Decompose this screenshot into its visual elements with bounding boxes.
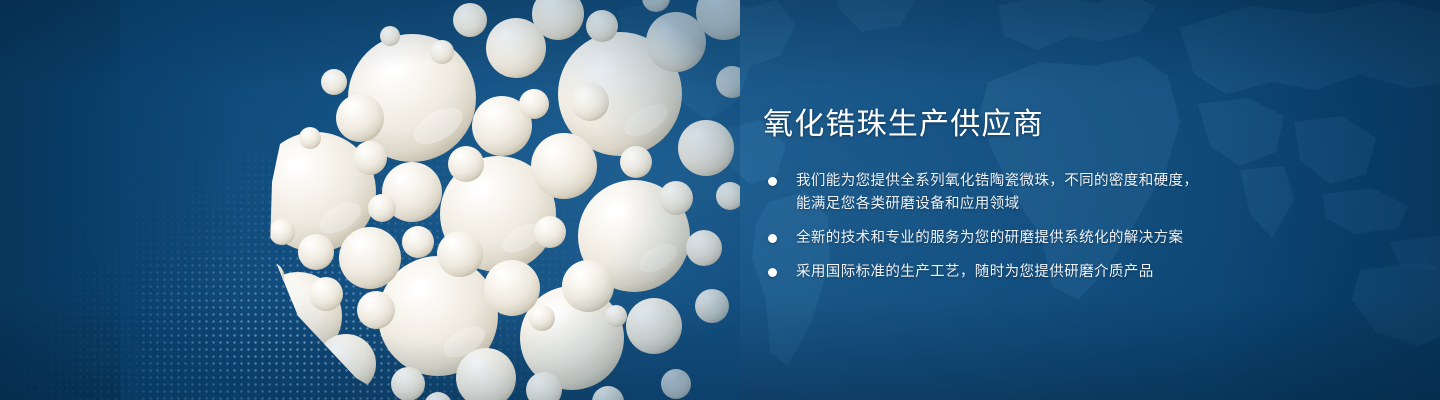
hero-banner: 氧化锆珠生产供应商 我们能为您提供全系列氧化锆陶瓷微珠，不同的密度和硬度， 能满… (0, 0, 1440, 400)
bullet-dot-icon (768, 234, 777, 243)
bullet-dot-icon (768, 268, 777, 277)
bullet-text-line-1: 采用国际标准的生产工艺，随时为您提供研磨介质产品 (796, 261, 1283, 284)
page-title: 氧化锆珠生产供应商 (763, 106, 1283, 144)
bullet-dot-icon (768, 177, 777, 186)
zirconia-beads-photo (120, 0, 740, 400)
list-item: 采用国际标准的生产工艺，随时为您提供研磨介质产品 (768, 261, 1283, 284)
bullet-text-line-2: 能满足您各类研磨设备和应用领域 (796, 193, 1283, 216)
feature-bullet-list: 我们能为您提供全系列氧化锆陶瓷微珠，不同的密度和硬度， 能满足您各类研磨设备和应… (768, 170, 1283, 284)
bullet-text-line-1: 我们能为您提供全系列氧化锆陶瓷微珠，不同的密度和硬度， (796, 170, 1283, 193)
bullet-text-line-1: 全新的技术和专业的服务为您的研磨提供系统化的解决方案 (796, 227, 1283, 250)
banner-copy: 氧化锆珠生产供应商 我们能为您提供全系列氧化锆陶瓷微珠，不同的密度和硬度， 能满… (763, 106, 1283, 284)
list-item: 全新的技术和专业的服务为您的研磨提供系统化的解决方案 (768, 227, 1283, 250)
list-item: 我们能为您提供全系列氧化锆陶瓷微珠，不同的密度和硬度， 能满足您各类研磨设备和应… (768, 170, 1283, 216)
